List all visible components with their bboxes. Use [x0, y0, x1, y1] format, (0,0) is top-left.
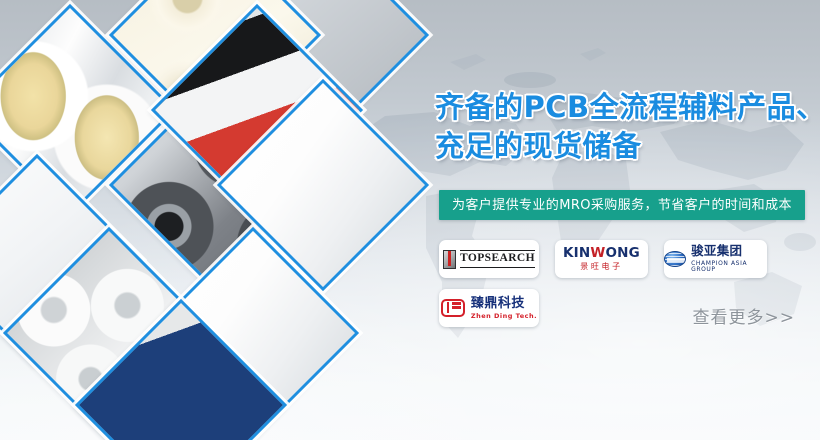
logo-zhen-ding[interactable]: 臻鼎科技 Zhen Ding Tech.: [439, 289, 539, 327]
champion-wordmark: 骏亚集团: [691, 245, 767, 258]
logo-kinwong[interactable]: KINWONG 景旺电子: [555, 240, 648, 278]
zhen-ding-sub: Zhen Ding Tech.: [471, 313, 537, 320]
zhen-ding-wordmark: 臻鼎科技: [471, 297, 537, 310]
kinwong-wordmark-a: KIN: [563, 245, 590, 261]
topsearch-wordmark: TOPSEARCH: [460, 250, 535, 268]
zhen-ding-mark-icon: [441, 299, 465, 317]
topsearch-mark-icon: [443, 250, 456, 269]
headline-line-2: 充足的现货储备: [435, 127, 820, 166]
kinwong-sub: 景旺电子: [563, 263, 640, 271]
view-more-link[interactable]: 查看更多>>: [693, 310, 796, 327]
kinwong-wordmark: KINWONG: [563, 247, 640, 261]
subtitle-bar: 为客户提供专业的MRO采购服务，节省客户的时间和成本: [439, 190, 805, 220]
logo-topsearch[interactable]: TOPSEARCH: [439, 240, 539, 278]
logo-champion-asia[interactable]: 骏亚集团 CHAMPION ASIA GROUP: [664, 240, 767, 278]
product-diamond-collage: [0, 0, 440, 440]
subtitle-text: 为客户提供专业的MRO采购服务，节省客户的时间和成本: [452, 199, 792, 212]
headline: 齐备的PCB全流程辅料产品、 充足的现货储备: [435, 88, 820, 167]
globe-icon: [664, 251, 686, 267]
headline-line-1: 齐备的PCB全流程辅料产品、: [435, 88, 820, 127]
banner-content: 齐备的PCB全流程辅料产品、 充足的现货储备 为客户提供专业的MRO采购服务，节…: [425, 0, 820, 440]
champion-sub: CHAMPION ASIA GROUP: [691, 261, 767, 273]
logo-row-1: TOPSEARCH KINWONG 景旺电子 骏亚集团 CHAMPION ASI: [439, 240, 811, 278]
kinwong-wordmark-b: W: [590, 245, 605, 261]
kinwong-wordmark-c: ONG: [606, 245, 640, 261]
promo-banner: 齐备的PCB全流程辅料产品、 充足的现货储备 为客户提供专业的MRO采购服务，节…: [0, 0, 820, 440]
